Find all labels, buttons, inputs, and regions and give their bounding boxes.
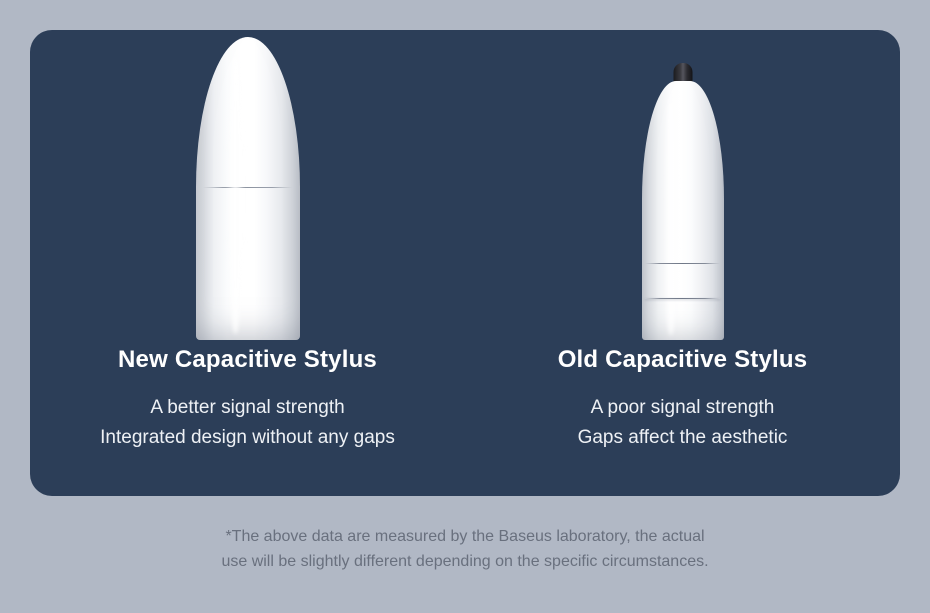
new-stylus-feature-2: Integrated design without any gaps bbox=[30, 423, 465, 453]
footnote-line-2: use will be slightly different depending… bbox=[0, 549, 930, 574]
comparison-panel: New Capacitive Stylus A better signal st… bbox=[30, 30, 900, 496]
new-stylus-seam-line bbox=[203, 187, 292, 188]
new-stylus-illustration bbox=[30, 30, 465, 340]
comparison-columns: New Capacitive Stylus A better signal st… bbox=[30, 30, 900, 496]
new-stylus-feature-1: A better signal strength bbox=[30, 393, 465, 423]
old-stylus-features: A poor signal strength Gaps affect the a… bbox=[465, 393, 900, 453]
old-stylus-title: Old Capacitive Stylus bbox=[465, 346, 900, 375]
old-stylus-caption: Old Capacitive Stylus A poor signal stre… bbox=[465, 346, 900, 453]
old-stylus-gap-line-2 bbox=[645, 298, 720, 299]
old-stylus-shell bbox=[642, 81, 724, 340]
column-new-capacitive-stylus: New Capacitive Stylus A better signal st… bbox=[30, 30, 465, 496]
new-stylus-body bbox=[196, 37, 300, 340]
new-stylus-title: New Capacitive Stylus bbox=[30, 346, 465, 375]
old-stylus-illustration bbox=[465, 30, 900, 340]
footnote-line-1: *The above data are measured by the Base… bbox=[0, 524, 930, 549]
old-stylus-body bbox=[642, 63, 724, 340]
old-stylus-feature-1: A poor signal strength bbox=[465, 393, 900, 423]
comparison-graphic: New Capacitive Stylus A better signal st… bbox=[0, 0, 930, 613]
old-stylus-feature-2: Gaps affect the aesthetic bbox=[465, 423, 900, 453]
new-stylus-caption: New Capacitive Stylus A better signal st… bbox=[30, 346, 465, 453]
old-stylus-gap-line-1 bbox=[645, 263, 720, 264]
disclaimer-footnote: *The above data are measured by the Base… bbox=[0, 524, 930, 575]
column-old-capacitive-stylus: Old Capacitive Stylus A poor signal stre… bbox=[465, 30, 900, 496]
new-stylus-features: A better signal strength Integrated desi… bbox=[30, 393, 465, 453]
